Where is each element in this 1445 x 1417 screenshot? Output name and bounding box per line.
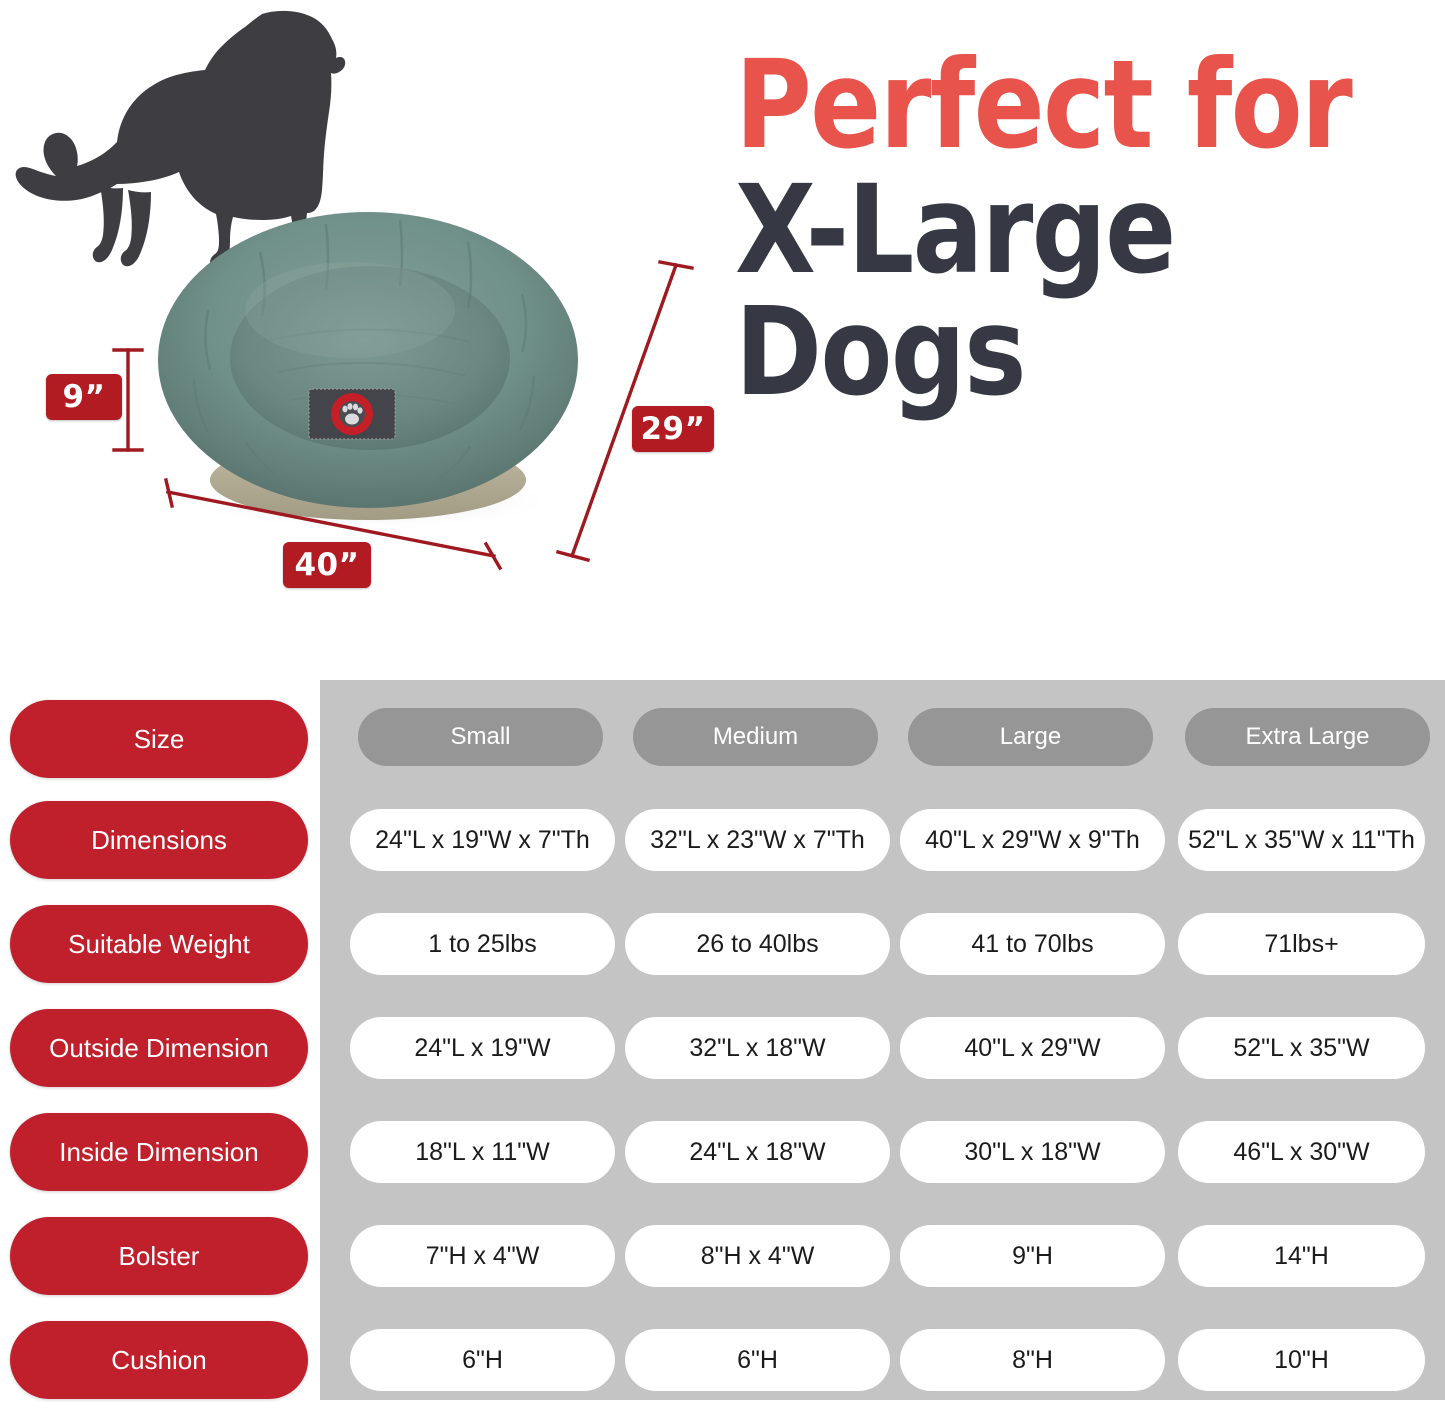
column-header-small: Small: [358, 708, 603, 766]
cell-inside-dimension-medium: 24"L x 18"W: [625, 1121, 890, 1183]
spec-table-panel: SmallMediumLargeExtra Large24"L x 19"W x…: [320, 680, 1445, 1400]
cell-suitable-weight-large: 41 to 70lbs: [900, 913, 1165, 975]
row-label-suitable-weight: Suitable Weight: [10, 905, 308, 983]
cell-bolster-large: 9"H: [900, 1225, 1165, 1287]
cell-bolster-small: 7"H x 4"W: [350, 1225, 615, 1287]
cell-suitable-weight-medium: 26 to 40lbs: [625, 913, 890, 975]
cell-inside-dimension-small: 18"L x 11"W: [350, 1121, 615, 1183]
headline-line-2: X-Large: [735, 173, 1337, 288]
row-label-inside-dimension: Inside Dimension: [10, 1113, 308, 1191]
spec-grid: SmallMediumLargeExtra Large24"L x 19"W x…: [320, 680, 1445, 1400]
cell-outside-dimension-medium: 32"L x 18"W: [625, 1017, 890, 1079]
cell-bolster-medium: 8"H x 4"W: [625, 1225, 890, 1287]
column-header-extra-large: Extra Large: [1185, 708, 1430, 766]
hero-section: 9” 40” 29” Perfect for X-Large Dogs: [0, 0, 1445, 660]
row-label-column: SizeDimensionsSuitable WeightOutside Dim…: [10, 680, 310, 1400]
cell-dimensions-medium: 32"L x 23"W x 7"Th: [625, 809, 890, 871]
dog-bed-image: [150, 190, 585, 535]
cell-cushion-medium: 6"H: [625, 1329, 890, 1391]
row-label-bolster: Bolster: [10, 1217, 308, 1295]
cell-suitable-weight-extra-large: 71lbs+: [1178, 913, 1425, 975]
cell-inside-dimension-extra-large: 46"L x 30"W: [1178, 1121, 1425, 1183]
headline-line-3: Dogs: [735, 295, 1337, 410]
column-header-medium: Medium: [633, 708, 878, 766]
row-label-cushion: Cushion: [10, 1321, 308, 1399]
callout-length-40in: 40”: [283, 542, 371, 588]
majestic-pet-brand-tag: [308, 388, 396, 440]
cell-outside-dimension-small: 24"L x 19"W: [350, 1017, 615, 1079]
cell-cushion-large: 8"H: [900, 1329, 1165, 1391]
cell-outside-dimension-extra-large: 52"L x 35"W: [1178, 1017, 1425, 1079]
callout-height-9in: 9”: [46, 374, 122, 420]
cell-cushion-small: 6"H: [350, 1329, 615, 1391]
cell-outside-dimension-large: 40"L x 29"W: [900, 1017, 1165, 1079]
column-header-large: Large: [908, 708, 1153, 766]
row-label-dimensions: Dimensions: [10, 801, 308, 879]
row-label-size: Size: [10, 700, 308, 778]
cell-dimensions-large: 40"L x 29"W x 9"Th: [900, 809, 1165, 871]
cell-dimensions-extra-large: 52"L x 35"W x 11"Th: [1178, 809, 1425, 871]
spec-table-section: SmallMediumLargeExtra Large24"L x 19"W x…: [0, 660, 1445, 1417]
headline-block: Perfect for X-Large Dogs: [735, 48, 1435, 410]
cell-dimensions-small: 24"L x 19"W x 7"Th: [350, 809, 615, 871]
callout-width-29in: 29”: [632, 406, 714, 452]
cell-bolster-extra-large: 14"H: [1178, 1225, 1425, 1287]
headline-line-1: Perfect for: [735, 48, 1337, 163]
cell-inside-dimension-large: 30"L x 18"W: [900, 1121, 1165, 1183]
cell-cushion-extra-large: 10"H: [1178, 1329, 1425, 1391]
row-label-outside-dimension: Outside Dimension: [10, 1009, 308, 1087]
cell-suitable-weight-small: 1 to 25lbs: [350, 913, 615, 975]
